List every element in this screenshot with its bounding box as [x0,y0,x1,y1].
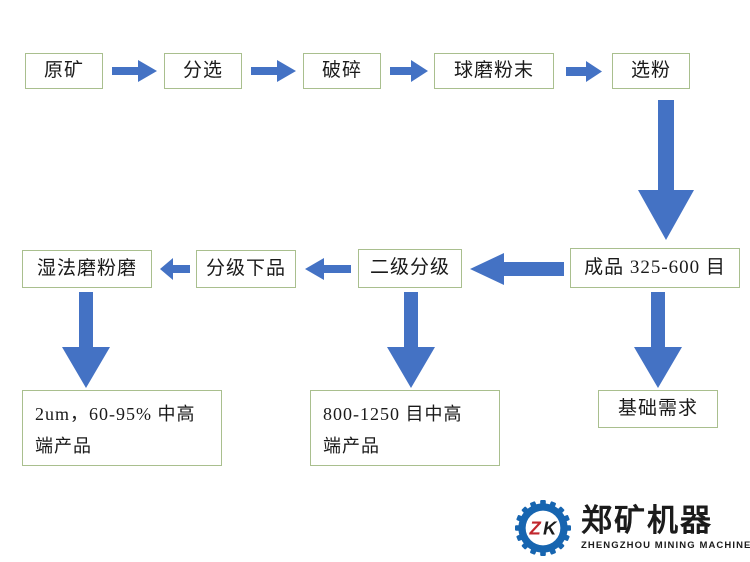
logo-mark-letter-k: K [543,518,558,539]
arrow-secondary-to-graded-low-grade [305,258,351,280]
node-sorting: 分选 [164,53,242,89]
node-product-800-line2: 端产品 [323,431,489,463]
node-product-2um-line2: 端产品 [35,431,211,463]
node-secondary-grading: 二级分级 [358,249,462,288]
node-crushing: 破碎 [303,53,381,89]
node-wet-grinding-label: 湿法磨粉磨 [37,255,137,284]
arrow-raw-ore-to-sorting [112,60,157,82]
node-graded-low-grade: 分级下品 [196,250,296,288]
arrow-finished-to-secondary-grading [470,253,564,285]
company-logo: Z K 郑矿机器 ZHENGZHOU MINING MACHINERY [515,500,750,556]
node-raw-ore-label: 原矿 [44,57,84,86]
node-ball-mill-powder-label: 球磨粉末 [454,57,534,86]
arrow-sorting-to-crushing [251,60,296,82]
arrow-graded-to-wet-grinding [160,258,190,280]
node-raw-ore: 原矿 [25,53,103,89]
flowchart-canvas: 原矿 分选 破碎 球磨粉末 选粉 [0,0,750,562]
node-finished-product-label: 成品 325-600 目 [584,254,726,283]
node-basic-demand: 基础需求 [598,390,718,428]
logo-mark-letter-z: Z [529,518,542,539]
node-wet-grinding: 湿法磨粉磨 [22,250,152,288]
logo-company-en: ZHENGZHOU MINING MACHINERY [581,540,750,551]
node-sorting-label: 分选 [183,57,223,86]
logo-text-block: 郑矿机器 ZHENGZHOU MINING MACHINERY [581,505,750,552]
arrow-ball-mill-to-powder-selection [566,61,602,82]
node-powder-selection: 选粉 [612,53,690,89]
arrow-finished-to-basic-demand [634,292,682,388]
arrow-secondary-to-product-800 [387,292,435,388]
node-basic-demand-label: 基础需求 [618,395,698,424]
arrow-wet-grinding-to-product-2um [62,292,110,388]
node-product-800: 800-1250 目中高 端产品 [310,390,500,466]
node-product-2um: 2um，60-95% 中高 端产品 [22,390,222,466]
arrow-powder-selection-to-finished [638,100,694,240]
node-ball-mill-powder: 球磨粉末 [434,53,554,89]
node-finished-product: 成品 325-600 目 [570,248,740,288]
arrow-crushing-to-ball-mill [390,60,428,82]
node-product-2um-line1: 2um，60-95% 中高 [35,399,211,431]
gear-zk-icon: Z K [515,500,571,556]
node-crushing-label: 破碎 [322,57,362,86]
node-powder-selection-label: 选粉 [631,57,671,86]
node-product-800-line1: 800-1250 目中高 [323,399,489,431]
node-graded-low-grade-label: 分级下品 [206,255,286,284]
node-secondary-grading-label: 二级分级 [370,254,450,283]
logo-company-cn: 郑矿机器 [581,505,750,538]
